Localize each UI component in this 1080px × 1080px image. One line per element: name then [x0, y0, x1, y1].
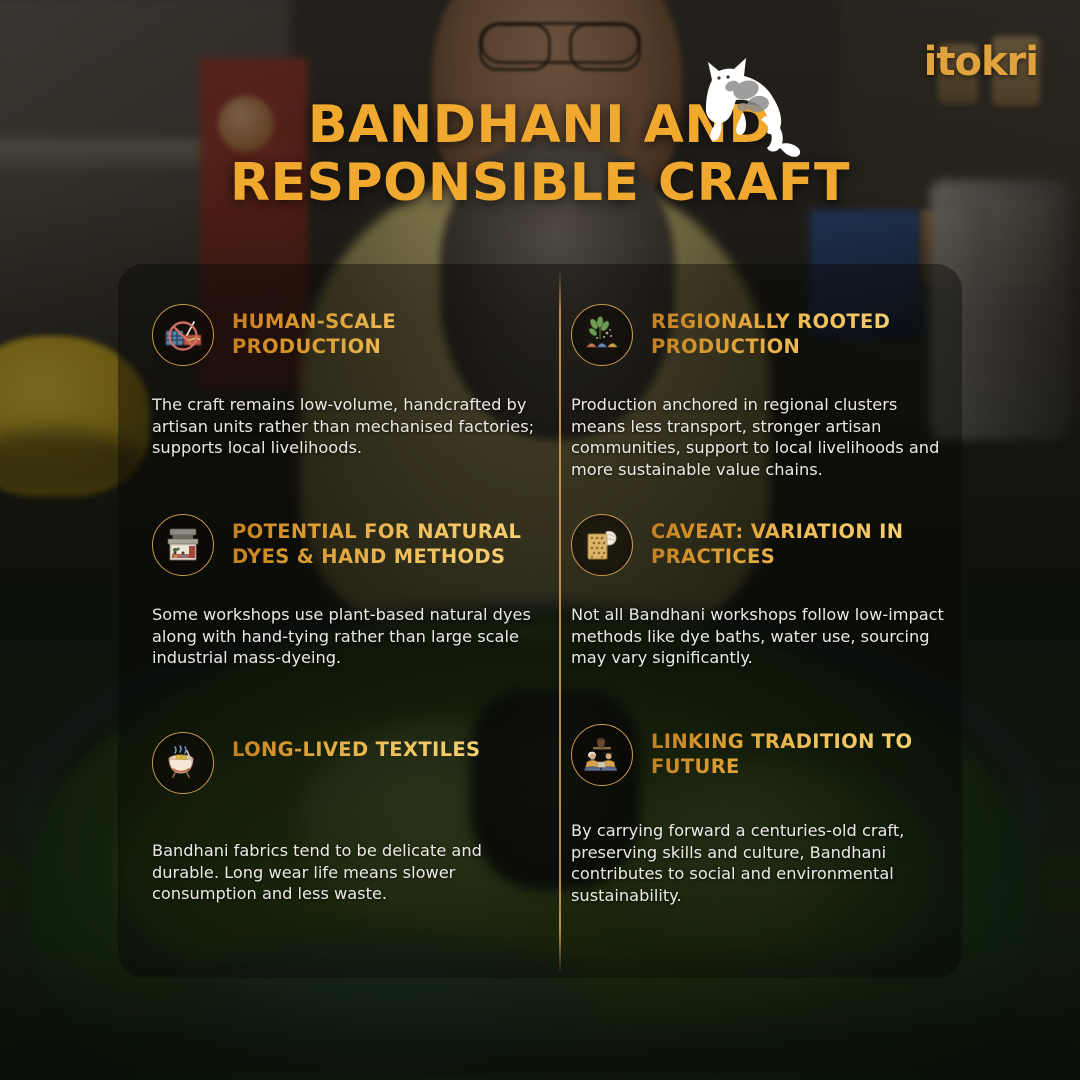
card-title: REGIONALLY ROOTED PRODUCTION [651, 304, 921, 360]
card-body-text: Production anchored in regional clusters… [571, 394, 946, 481]
card-header: REGIONALLY ROOTED PRODUCTION [571, 304, 946, 366]
card-header: CAVEAT: VARIATION IN PRACTICES [571, 514, 946, 576]
card-header: LONG-LIVED TEXTILES [152, 732, 537, 794]
card-body-text: Not all Bandhani workshops follow low-im… [571, 604, 946, 669]
card-header: POTENTIAL FOR NATURAL DYES & HAND METHOD… [152, 514, 537, 576]
no-factory-machine-icon [152, 304, 214, 366]
cards-grid: HUMAN-SCALE PRODUCTION The craft remains… [118, 264, 962, 978]
card-natural-dyes-hand-methods: POTENTIAL FOR NATURAL DYES & HAND METHOD… [118, 474, 559, 684]
two-seated-artisans-icon [571, 724, 633, 786]
card-linking-tradition-to-future: LINKING TRADITION TO FUTURE By carrying … [559, 684, 962, 978]
card-human-scale-production: HUMAN-SCALE PRODUCTION The craft remains… [118, 264, 559, 474]
card-title: POTENTIAL FOR NATURAL DYES & HAND METHOD… [232, 514, 532, 570]
card-long-lived-textiles: LONG-LIVED TEXTILES Bandhani fabrics ten… [118, 684, 559, 978]
hand-holding-patterned-fabric-icon [571, 514, 633, 576]
card-body-text: Bandhani fabrics tend to be delicate and… [152, 840, 537, 905]
seedlings-soil-icon [571, 304, 633, 366]
page-title-line-2: RESPONSIBLE CRAFT [0, 154, 1080, 212]
card-body-text: Some workshops use plant-based natural d… [152, 604, 537, 669]
card-header: HUMAN-SCALE PRODUCTION [152, 304, 537, 366]
card-title: LONG-LIVED TEXTILES [232, 732, 480, 763]
content-panel: HUMAN-SCALE PRODUCTION The craft remains… [118, 264, 962, 978]
card-header: LINKING TRADITION TO FUTURE [571, 724, 946, 786]
workshop-shop-building-icon [152, 514, 214, 576]
page-title: BANDHANI AND RESPONSIBLE CRAFT [0, 96, 1080, 212]
card-caveat-variation-in-practices: CAVEAT: VARIATION IN PRACTICES Not all B… [559, 474, 962, 684]
card-title: HUMAN-SCALE PRODUCTION [232, 304, 532, 360]
brand-logo[interactable]: itokri [924, 42, 1038, 82]
card-title: LINKING TRADITION TO FUTURE [651, 724, 921, 780]
page-title-line-1: BANDHANI AND [0, 96, 1080, 154]
card-regionally-rooted-production: REGIONALLY ROOTED PRODUCTION Production … [559, 264, 962, 474]
card-title: CAVEAT: VARIATION IN PRACTICES [651, 514, 921, 570]
infographic-poster: itokri BANDHANI AND RESPONSIBLE CRAFT [0, 0, 1080, 1080]
card-body-text: The craft remains low-volume, handcrafte… [152, 394, 537, 459]
card-body-text: By carrying forward a centuries-old craf… [571, 820, 946, 907]
steaming-dye-pot-icon [152, 732, 214, 794]
